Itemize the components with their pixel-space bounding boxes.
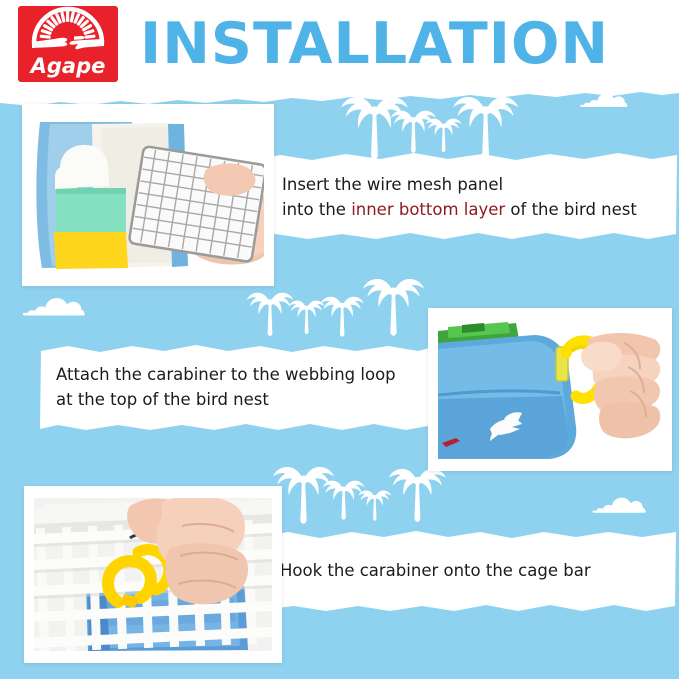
svg-text:Agape: Agape	[29, 54, 106, 78]
infographic-canvas: Agape INSTALLATION Insert the wire mesh …	[0, 0, 679, 679]
palm-tree-group-middle	[247, 279, 424, 337]
agape-hands-logo-icon: Agape	[18, 6, 118, 82]
step-1-highlight: inner bottom layer	[351, 200, 505, 219]
palm-tree-group-lower	[273, 467, 446, 524]
step-3-photo-card	[24, 486, 282, 663]
step-2-photo-card	[428, 308, 672, 471]
cloud-lower-right	[592, 498, 645, 513]
step-1-line-2-tail: of the bird nest	[505, 200, 637, 219]
cloud-top-right	[580, 93, 627, 106]
cloud-middle-left	[23, 298, 85, 315]
step-2-photo-image	[438, 319, 662, 460]
step-1-photo-image	[32, 116, 264, 274]
step-3-photo-image	[34, 498, 272, 651]
step-3-text: Hook the carabiner onto the cage bar	[280, 558, 670, 583]
step-1-text: Insert the wire mesh panel into the inne…	[282, 172, 674, 222]
page-title: INSTALLATION	[140, 8, 670, 80]
step-2-text: Attach the carabiner to the webbing loop…	[56, 362, 428, 412]
step-2-text-banner: Attach the carabiner to the webbing loop…	[38, 342, 436, 432]
brand-logo: Agape	[18, 6, 118, 82]
step-1-photo-card	[22, 104, 274, 286]
step-3-text-banner: Hook the carabiner onto the cage bar	[258, 528, 679, 612]
step-1-text-banner: Insert the wire mesh panel into the inne…	[252, 150, 679, 242]
